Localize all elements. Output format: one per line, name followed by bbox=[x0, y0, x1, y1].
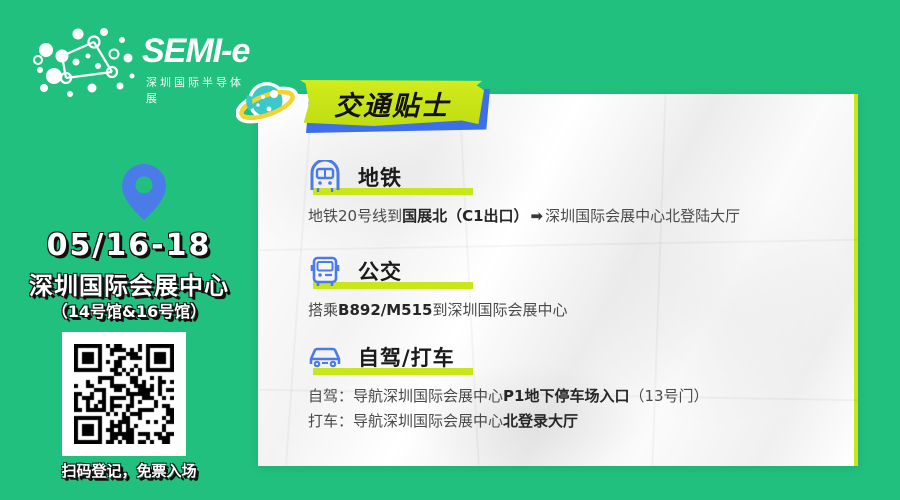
section-title: 公交 bbox=[358, 256, 402, 286]
bus-icon bbox=[308, 254, 342, 288]
text-line: 地铁20号线到国展北（C1出口）➡深圳国际会展中心北登陆大厅 bbox=[308, 204, 740, 229]
section-body: 搭乘B892/M515到深圳国际会展中心 bbox=[308, 298, 568, 323]
qr-code-icon[interactable] bbox=[74, 344, 174, 444]
event-date: 05/16-18 bbox=[0, 228, 258, 263]
section-body: 自驾：导航深圳国际会展中心P1地下停车场入口（13号门）打车：导航深圳国际会展中… bbox=[308, 384, 709, 434]
section-title: 自驾/打车 bbox=[358, 342, 455, 372]
text-line: 搭乘B892/M515到深圳国际会展中心 bbox=[308, 298, 568, 323]
text-line: 打车：导航深圳国际会展中心北登录大厅 bbox=[308, 409, 709, 434]
planet-icon bbox=[236, 72, 298, 134]
section-car: 自驾/打车 自驾：导航深圳国际会展中心P1地下停车场入口（13号门）打车：导航深… bbox=[308, 338, 709, 434]
section-bus: 公交 搭乘B892/M515到深圳国际会展中心 bbox=[308, 252, 568, 323]
left-panel: SEMI-e 深圳国际半导体展 05/16-18 深圳国际会展中心 （14号馆&… bbox=[0, 0, 258, 500]
qr-caption: 扫码登记，免票入场 bbox=[0, 460, 258, 481]
brand-wordmark: SEMI-e bbox=[142, 34, 249, 68]
metro-train-icon bbox=[308, 160, 342, 194]
event-halls: （14号馆&16号馆） bbox=[0, 298, 258, 322]
event-venue: 深圳国际会展中心 bbox=[0, 266, 258, 301]
section-title: 地铁 bbox=[358, 162, 402, 192]
card-title-banner: 交通贴士 bbox=[300, 80, 490, 134]
network-nodes-icon bbox=[32, 26, 142, 98]
section-header: 公交 bbox=[308, 252, 568, 294]
section-metro: 地铁 地铁20号线到国展北（C1出口）➡深圳国际会展中心北登陆大厅 bbox=[308, 158, 740, 229]
section-header: 地铁 bbox=[308, 158, 740, 200]
card-title: 交通贴士 bbox=[300, 80, 484, 126]
brand-logo: SEMI-e 深圳国际半导体展 bbox=[24, 22, 254, 102]
qr-code-card[interactable] bbox=[62, 332, 186, 456]
text-line: 自驾：导航深圳国际会展中心P1地下停车场入口（13号门） bbox=[308, 384, 709, 409]
section-body: 地铁20号线到国展北（C1出口）➡深圳国际会展中心北登陆大厅 bbox=[308, 204, 740, 229]
location-pin-icon bbox=[122, 164, 166, 220]
section-header: 自驾/打车 bbox=[308, 338, 709, 380]
car-icon bbox=[308, 340, 342, 374]
